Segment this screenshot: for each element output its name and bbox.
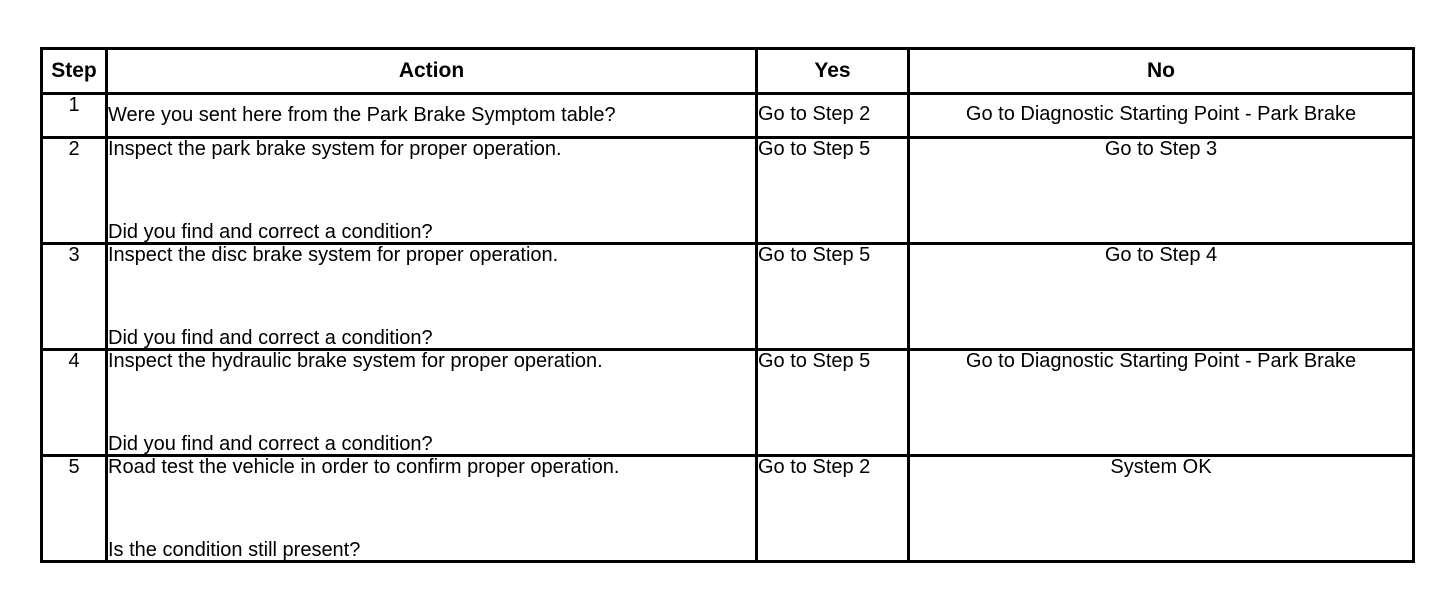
action-text: Were you sent here from the Park Brake S… [107, 94, 757, 138]
step-number: 5 [42, 456, 107, 562]
no-result: Go to Diagnostic Starting Point - Park B… [909, 94, 1414, 138]
step-number: 1 [42, 94, 107, 138]
no-result: Go to Diagnostic Starting Point - Park B… [909, 350, 1414, 456]
step-number: 4 [42, 350, 107, 456]
step-number: 3 [42, 244, 107, 350]
column-header-yes: Yes [757, 49, 909, 94]
yes-result: Go to Step 5 [757, 244, 909, 350]
column-header-step: Step [42, 49, 107, 94]
table-row: 3 Inspect the disc brake system for prop… [42, 244, 1414, 350]
yes-result: Go to Step 2 [757, 94, 909, 138]
action-text-line-2: Did you find and correct a condition? [108, 434, 755, 454]
action-text-line-2: Is the condition still present? [108, 540, 755, 560]
diagnostic-procedure-table-container: Step Action Yes No 1 Were you sent here … [40, 47, 1412, 563]
table-row: 5 Road test the vehicle in order to conf… [42, 456, 1414, 562]
no-result: Go to Step 3 [909, 138, 1414, 244]
action-text-line-1: Road test the vehicle in order to confir… [108, 457, 755, 477]
no-result: Go to Step 4 [909, 244, 1414, 350]
action-text: Road test the vehicle in order to confir… [107, 456, 757, 562]
table-row: 4 Inspect the hydraulic brake system for… [42, 350, 1414, 456]
action-text: Inspect the park brake system for proper… [107, 138, 757, 244]
no-result: System OK [909, 456, 1414, 562]
action-text: Inspect the hydraulic brake system for p… [107, 350, 757, 456]
column-header-no: No [909, 49, 1414, 94]
table-row: 1 Were you sent here from the Park Brake… [42, 94, 1414, 138]
diagnostic-procedure-table: Step Action Yes No 1 Were you sent here … [40, 47, 1415, 563]
action-text-line-1: Inspect the park brake system for proper… [108, 139, 755, 159]
table-row: 2 Inspect the park brake system for prop… [42, 138, 1414, 244]
yes-result: Go to Step 5 [757, 350, 909, 456]
action-text: Inspect the disc brake system for proper… [107, 244, 757, 350]
step-number: 2 [42, 138, 107, 244]
action-text-line-2: Did you find and correct a condition? [108, 222, 755, 242]
table-header-row: Step Action Yes No [42, 49, 1414, 94]
action-text-line-1: Inspect the disc brake system for proper… [108, 245, 755, 265]
yes-result: Go to Step 2 [757, 456, 909, 562]
action-text-line-1: Inspect the hydraulic brake system for p… [108, 351, 755, 371]
column-header-action: Action [107, 49, 757, 94]
action-text-line-2: Did you find and correct a condition? [108, 328, 755, 348]
yes-result: Go to Step 5 [757, 138, 909, 244]
